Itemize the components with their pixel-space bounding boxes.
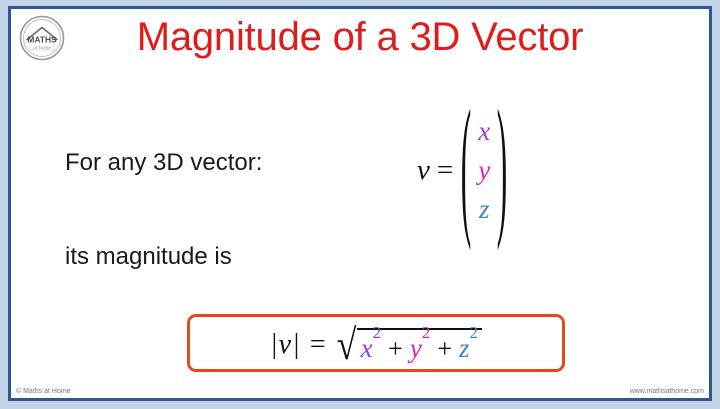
slide-frame: MATHS at home Magnitude of a 3D Vector F… [0, 0, 720, 409]
slide-canvas: MATHS at home Magnitude of a 3D Vector F… [8, 6, 712, 401]
term-y-exponent: 2 [422, 323, 431, 342]
plus-operator-2: + [437, 334, 452, 364]
term-x: x2 [361, 332, 381, 364]
formula-equals-sign: = [310, 329, 326, 361]
vector-component-y: y [478, 157, 490, 184]
magnitude-formula-box: |v| = √ x2 + y2 + z2 [187, 314, 565, 372]
magnitude-text-line: its magnitude is [65, 243, 232, 271]
term-x-exponent: 2 [373, 323, 382, 342]
website-url: www.mathsathome.com [630, 388, 704, 395]
term-x-base: x [361, 333, 373, 363]
vector-component-x: x [478, 118, 490, 145]
vector-component-z: z [479, 196, 490, 223]
vector-symbol: v [417, 154, 430, 187]
formula-lhs: |v| [270, 329, 301, 361]
term-z-base: z [459, 333, 470, 363]
page-title: Magnitude of a 3D Vector [11, 15, 709, 60]
term-y: y2 [410, 332, 430, 364]
term-z: z2 [459, 332, 478, 364]
magnitude-formula: |v| = √ x2 + y2 + z2 [270, 327, 482, 364]
vector-equals-sign: = [437, 154, 453, 187]
plus-operator-1: + [388, 334, 403, 364]
vector-column: x y z [478, 118, 490, 223]
square-root: √ x2 + y2 + z2 [335, 327, 482, 364]
radical-sign-icon: √ [336, 329, 356, 363]
copyright-notice: © Maths at Home [16, 388, 71, 395]
intro-text-line: For any 3D vector: [65, 149, 262, 177]
radicand: x2 + y2 + z2 [357, 328, 482, 364]
term-y-base: y [410, 333, 422, 363]
term-z-exponent: 2 [470, 323, 479, 342]
vector-definition: v = ( x y z ) [417, 105, 507, 235]
